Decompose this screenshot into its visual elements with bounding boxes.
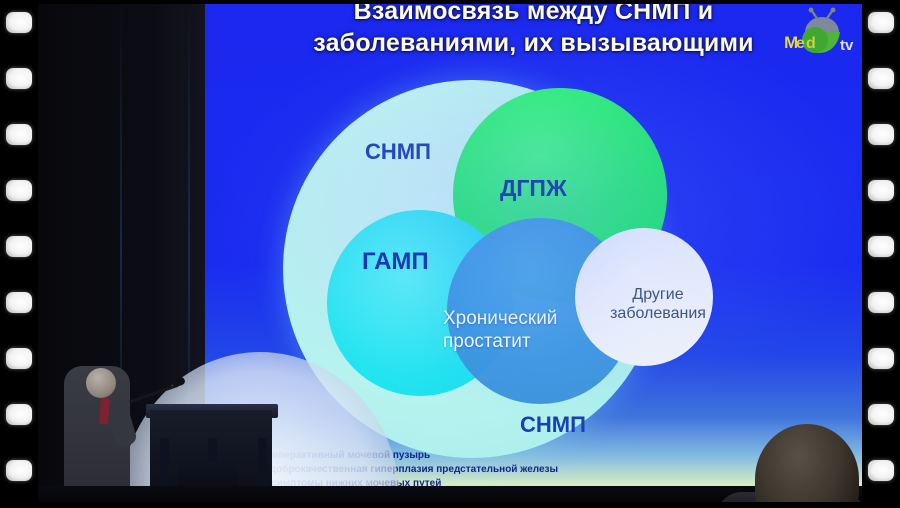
film-sprocket-hole: [6, 404, 32, 425]
presenter-head: [86, 368, 116, 398]
film-edge-top: [0, 0, 900, 4]
film-sprocket-hole: [868, 348, 894, 369]
video-frame: СНМП ДГПЖ ГАМП Хронический простатит Дру…: [0, 0, 900, 508]
label-other-diseases: Другие заболевания: [604, 285, 712, 323]
svg-text:e: e: [796, 35, 805, 52]
label-dgpj: ДГПЖ: [500, 175, 567, 203]
film-sprocket-hole: [6, 180, 32, 201]
film-sprocket-hole: [868, 404, 894, 425]
film-sprocket-hole: [6, 460, 32, 481]
film-sprocket-hole: [868, 180, 894, 201]
film-sprocket-hole: [868, 12, 894, 33]
med-tv-logo-icon: M e d tv: [782, 6, 856, 68]
film-sprocket-hole: [6, 12, 32, 33]
film-sprocket-hole: [868, 68, 894, 89]
film-sprocket-hole: [868, 236, 894, 257]
slide-title-line2: заболеваниями, их вызывающими: [205, 28, 862, 60]
film-sprocket-hole: [6, 68, 32, 89]
film-sprocket-hole: [6, 348, 32, 369]
film-sprocket-hole: [6, 236, 32, 257]
film-sprocket-hole: [868, 124, 894, 145]
label-gamp: ГАМП: [362, 248, 429, 277]
label-snmp-bottom: СНМП: [520, 412, 586, 438]
film-sprocket-hole: [868, 460, 894, 481]
film-strip-left: [0, 0, 38, 508]
label-other-line1: Другие: [604, 285, 712, 304]
film-edge-bottom: [0, 502, 900, 508]
label-snmp-top: СНМП: [365, 139, 431, 165]
logo-tv-text: tv: [840, 37, 854, 54]
label-prostatitis-line2: простатит: [443, 331, 557, 354]
svg-text:d: d: [806, 35, 816, 52]
film-strip-right: [862, 0, 900, 508]
film-sprocket-hole: [868, 292, 894, 313]
film-sprocket-hole: [6, 292, 32, 313]
presenter-tie: [99, 398, 110, 425]
label-other-line2: заболевания: [604, 304, 712, 323]
label-prostatitis-line1: Хронический: [443, 308, 557, 331]
label-chronic-prostatitis: Хронический простатит: [443, 308, 557, 354]
film-sprocket-hole: [6, 124, 32, 145]
slide-title: Взаимосвязь между СНМП и заболеваниями, …: [205, 0, 862, 59]
